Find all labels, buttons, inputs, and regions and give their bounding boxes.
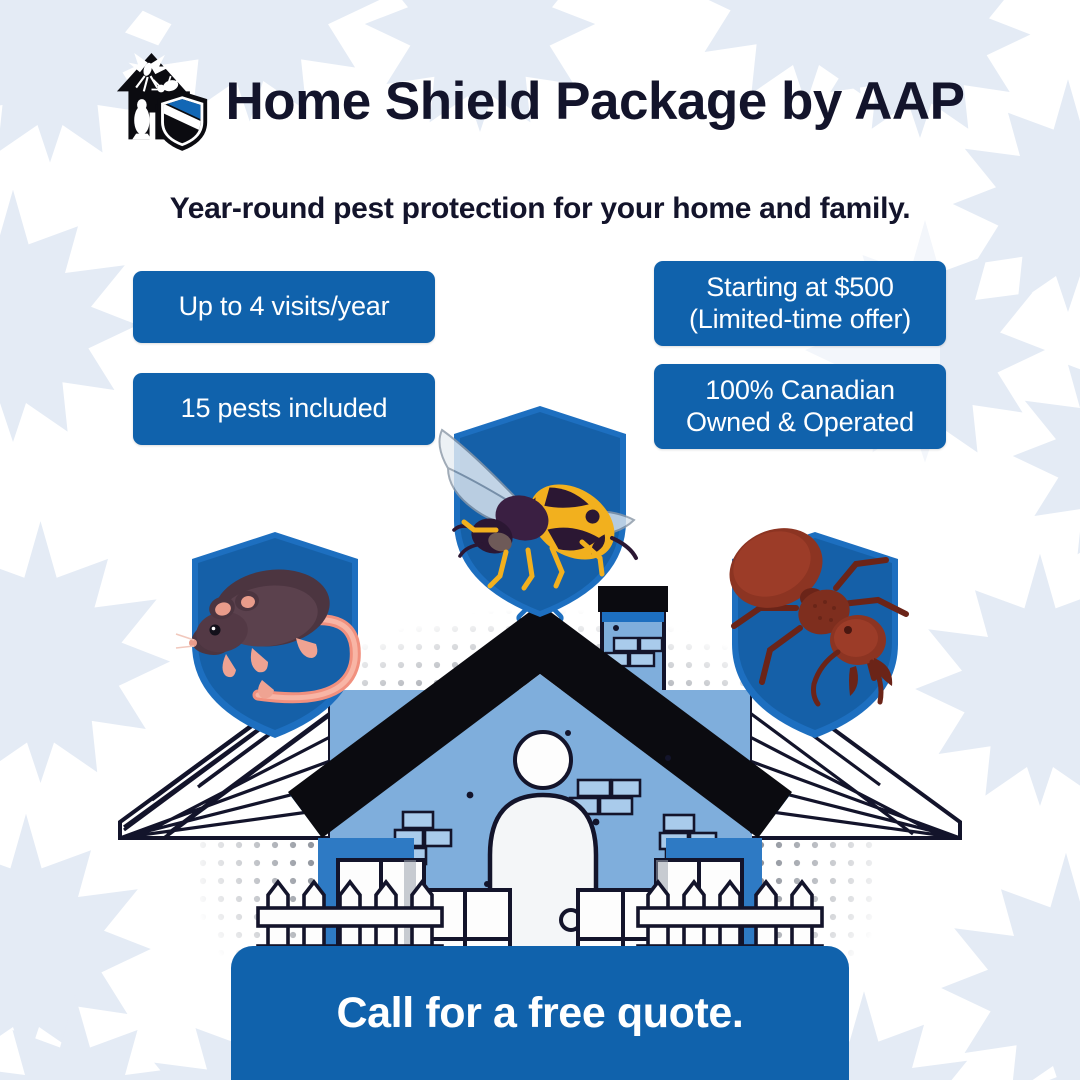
subtitle-text: Year-round pest protection for your home…	[0, 192, 1080, 226]
badge-price-line2: (Limited-time offer)	[689, 304, 911, 336]
feature-badge-pests: 15 pests included	[133, 373, 435, 445]
cta-label: Call for a free quote.	[337, 989, 744, 1038]
poster-header: Home Shield Package by AAP	[0, 46, 1080, 156]
badge-canadian-line1: 100% Canadian	[686, 375, 914, 407]
call-to-action-banner[interactable]: Call for a free quote.	[231, 946, 849, 1080]
badge-canadian-line2: Owned & Operated	[686, 407, 914, 439]
feature-badge-visits: Up to 4 visits/year	[133, 271, 435, 343]
badge-price-line1: Starting at $500	[689, 272, 911, 304]
aap-house-shield-logo	[115, 49, 211, 153]
attic-vent	[515, 732, 571, 788]
feature-badge-canadian: 100% Canadian Owned & Operated	[654, 364, 946, 449]
feature-badge-price: Starting at $500 (Limited-time offer)	[654, 261, 946, 346]
page-title: Home Shield Package by AAP	[225, 75, 964, 128]
poster-canvas: Home Shield Package by AAP Year-round pe…	[0, 0, 1080, 1080]
